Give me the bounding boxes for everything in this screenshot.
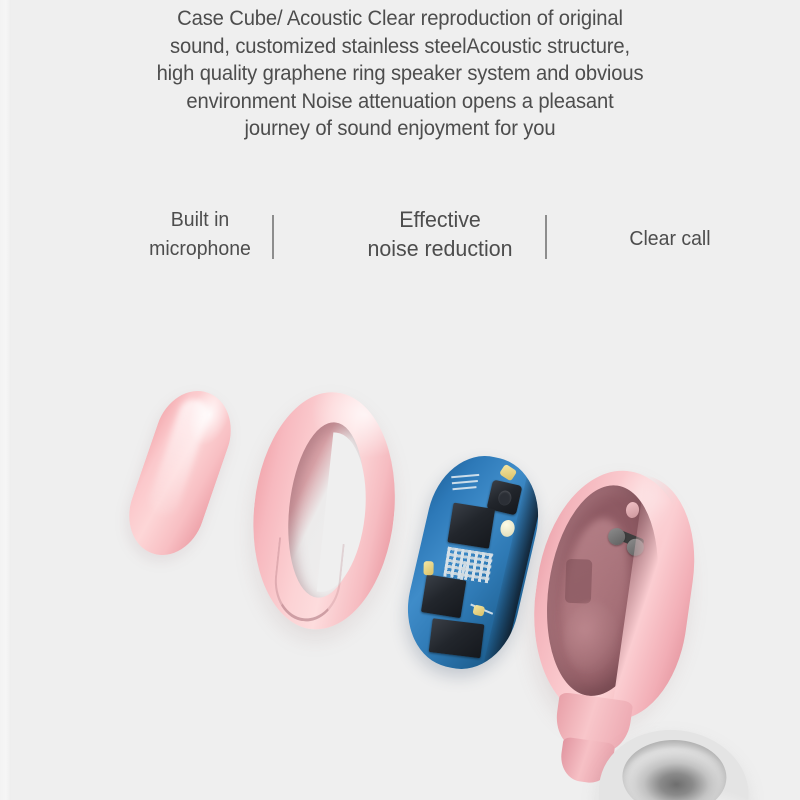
- pcb-silkscreen: [452, 480, 478, 484]
- feature-built-in-microphone: Built in microphone: [105, 205, 295, 263]
- feature-divider: [272, 215, 274, 259]
- pcb-capacitor: [472, 604, 485, 616]
- outer-ring-part: [234, 384, 418, 639]
- capsule-cover-part: [117, 381, 242, 566]
- pcb-chip: [429, 618, 485, 658]
- microphone-port-icon: [625, 501, 640, 519]
- product-infographic: Case Cube/ Acoustic Clear reproduction o…: [0, 0, 800, 800]
- feature-divider: [545, 215, 547, 259]
- pcb-silkscreen: [451, 474, 479, 478]
- exploded-view-illustration: [0, 330, 800, 800]
- feature-effective-noise-reduction: Effective noise reduction: [312, 205, 569, 263]
- pcb-chip: [447, 503, 495, 549]
- earbud-shell-part: [519, 461, 704, 730]
- headline-paragraph: Case Cube/ Acoustic Clear reproduction o…: [80, 5, 719, 143]
- feature-row: Built in microphone Effective noise redu…: [60, 205, 740, 285]
- cavity-slot: [565, 559, 593, 604]
- feature-clear-call: Clear call: [575, 205, 765, 253]
- pcb-capacitor: [423, 561, 433, 575]
- pcb-silkscreen: [452, 486, 476, 490]
- pcb-chip: [421, 574, 466, 618]
- pcb-capacitor: [499, 464, 517, 482]
- silicone-ear-tip-part: [591, 723, 755, 800]
